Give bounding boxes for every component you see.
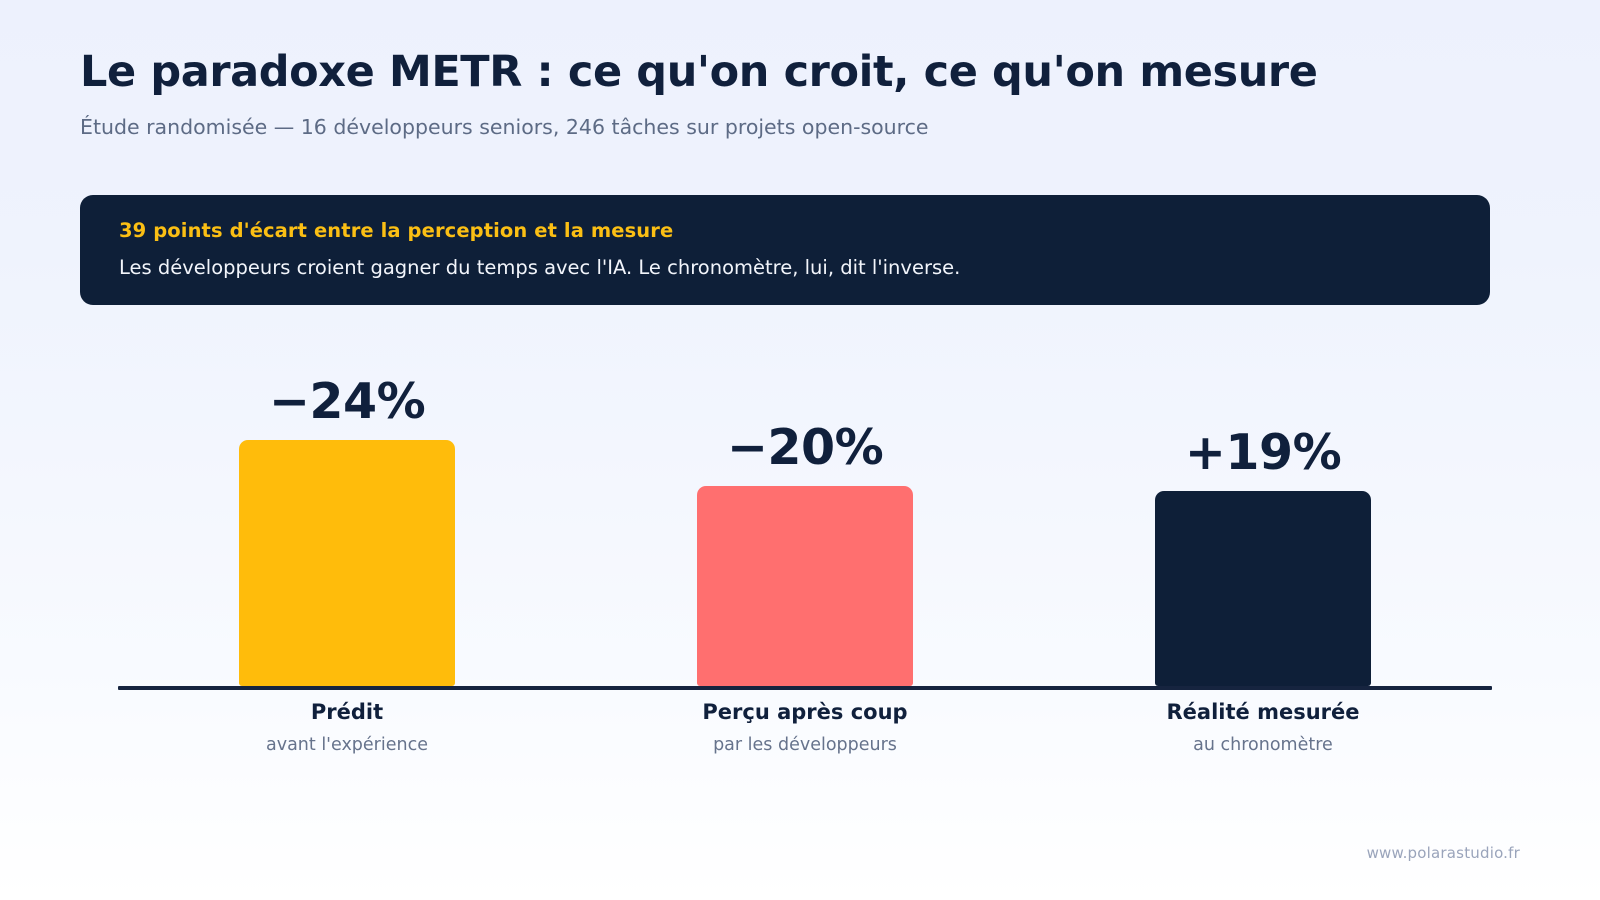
x-axis-label-realite-mesuree: Réalité mesurée au chronomètre	[1098, 700, 1428, 756]
footer-url: www.polarastudio.fr	[1367, 844, 1520, 862]
category-label: Perçu après coup	[640, 700, 970, 725]
bar-group: −24% −20% +19%	[118, 340, 1492, 686]
header: Le paradoxe METR : ce qu'on croit, ce qu…	[80, 48, 1520, 141]
category-label: Réalité mesurée	[1098, 700, 1428, 725]
bar-value-label: −20%	[727, 423, 883, 486]
bar-chart: −24% −20% +19%	[118, 340, 1492, 690]
bar-value-label: −24%	[269, 377, 425, 440]
bar-column-realite-mesuree: +19%	[1098, 340, 1428, 686]
bar-percu-apres-coup	[697, 486, 913, 686]
bar-realite-mesuree	[1155, 491, 1371, 686]
page-title: Le paradoxe METR : ce qu'on croit, ce qu…	[80, 48, 1520, 98]
callout-banner: 39 points d'écart entre la perception et…	[80, 195, 1490, 305]
x-axis-label-predit: Prédit avant l'expérience	[182, 700, 512, 756]
infographic-page: Le paradoxe METR : ce qu'on croit, ce qu…	[0, 0, 1600, 900]
axis-baseline	[118, 686, 1492, 690]
x-axis-label-percu-apres-coup: Perçu après coup par les développeurs	[640, 700, 970, 756]
category-sublabel: au chronomètre	[1098, 725, 1428, 756]
page-subtitle: Étude randomisée — 16 développeurs senio…	[80, 98, 1520, 141]
category-label: Prédit	[182, 700, 512, 725]
callout-body: Les développeurs croient gagner du temps…	[119, 243, 1451, 280]
bar-column-predit: −24%	[182, 340, 512, 686]
bar-predit	[239, 440, 455, 686]
bar-value-label: +19%	[1185, 428, 1341, 491]
x-axis-labels: Prédit avant l'expérience Perçu après co…	[118, 700, 1492, 756]
category-sublabel: avant l'expérience	[182, 725, 512, 756]
bar-column-percu-apres-coup: −20%	[640, 340, 970, 686]
callout-headline: 39 points d'écart entre la perception et…	[119, 218, 1451, 243]
category-sublabel: par les développeurs	[640, 725, 970, 756]
